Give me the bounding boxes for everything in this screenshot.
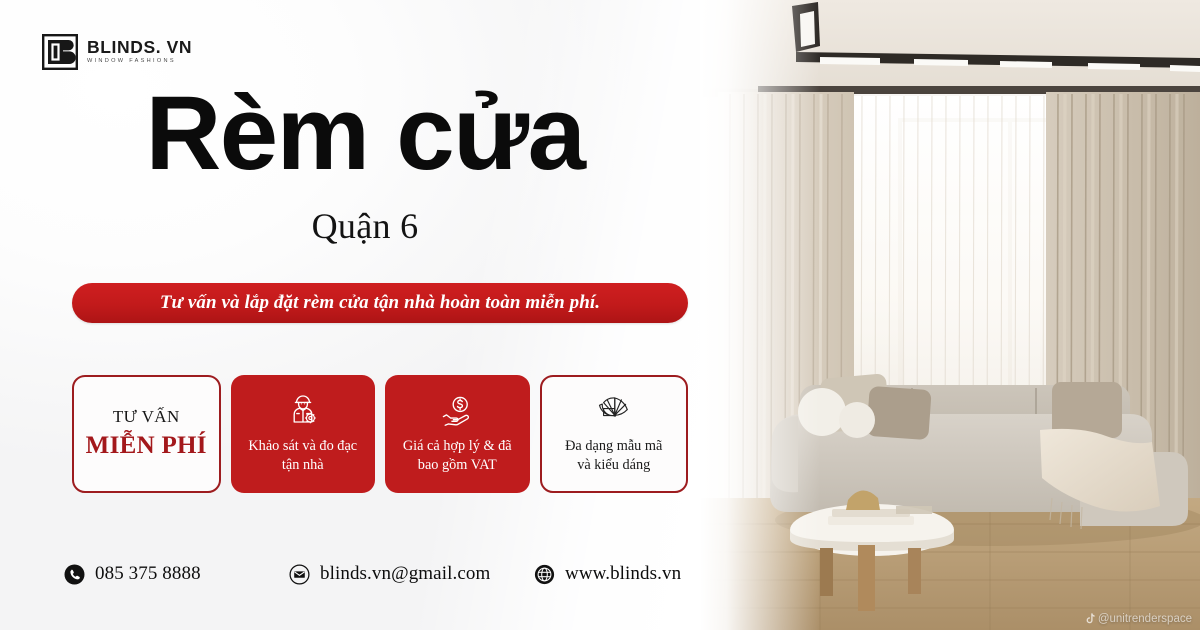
interior-photo: @unitrenderspace bbox=[700, 0, 1200, 630]
contact-email-value: blinds.vn@gmail.com bbox=[320, 563, 490, 585]
promo-banner: Tư vấn và lắp đặt rèm cửa tận nhà hoàn t… bbox=[72, 283, 688, 323]
feature-card-free-consult[interactable]: TƯ VẤN MIỄN PHÍ bbox=[72, 375, 221, 493]
contact-phone-value: 085 375 8888 bbox=[95, 563, 201, 585]
feature-card-price-label: Giá cả hợp lý & đã bao gồm VAT bbox=[403, 437, 512, 474]
globe-icon bbox=[534, 564, 555, 585]
feature-card-free-consult-main: MIỄN PHÍ bbox=[86, 430, 207, 461]
promo-banner-text: Tư vấn và lắp đặt rèm cửa tận nhà hoàn t… bbox=[160, 292, 600, 314]
blinds-logo-icon bbox=[42, 34, 78, 70]
feature-card-variety[interactable]: Đa dạng mẫu mã và kiểu dáng bbox=[540, 375, 689, 493]
feature-card-list: TƯ VẤN MIỄN PHÍ bbox=[72, 375, 688, 493]
page-subtitle: Quận 6 bbox=[0, 205, 730, 247]
contact-website-value: www.blinds.vn bbox=[565, 563, 681, 585]
contact-bar: 085 375 8888 blinds.vn@gmail.com bbox=[64, 563, 714, 585]
feature-card-variety-label: Đa dạng mẫu mã và kiểu dáng bbox=[565, 437, 662, 474]
feature-card-survey-label: Khảo sát và đo đạc tận nhà bbox=[248, 437, 357, 474]
worker-icon bbox=[286, 394, 320, 428]
feature-card-price[interactable]: Giá cả hợp lý & đã bao gồm VAT bbox=[385, 375, 530, 493]
brand-name: BLINDS. VN bbox=[87, 39, 192, 57]
contact-email[interactable]: blinds.vn@gmail.com bbox=[289, 563, 534, 585]
brand-tagline: WINDOW FASHIONS bbox=[87, 59, 192, 65]
brand-logo[interactable]: BLINDS. VN WINDOW FASHIONS bbox=[42, 34, 192, 70]
phone-icon bbox=[64, 564, 85, 585]
photo-watermark-text: @unitrenderspace bbox=[1098, 613, 1192, 625]
banner-root: BLINDS. VN WINDOW FASHIONS Rèm cửa Quận … bbox=[0, 0, 1200, 630]
feature-card-free-consult-top: TƯ VẤN bbox=[113, 407, 180, 427]
feature-card-survey[interactable]: Khảo sát và đo đạc tận nhà bbox=[231, 375, 376, 493]
hand-coin-icon bbox=[440, 394, 474, 428]
brand-logo-text: BLINDS. VN WINDOW FASHIONS bbox=[87, 39, 192, 65]
page-title: Rèm cửa bbox=[0, 80, 730, 187]
contact-phone[interactable]: 085 375 8888 bbox=[64, 563, 289, 585]
contact-website[interactable]: www.blinds.vn bbox=[534, 563, 681, 585]
tiktok-note-icon bbox=[1085, 613, 1095, 625]
photo-watermark: @unitrenderspace bbox=[1085, 613, 1192, 625]
fabric-fan-icon bbox=[597, 394, 631, 428]
envelope-icon bbox=[289, 564, 310, 585]
